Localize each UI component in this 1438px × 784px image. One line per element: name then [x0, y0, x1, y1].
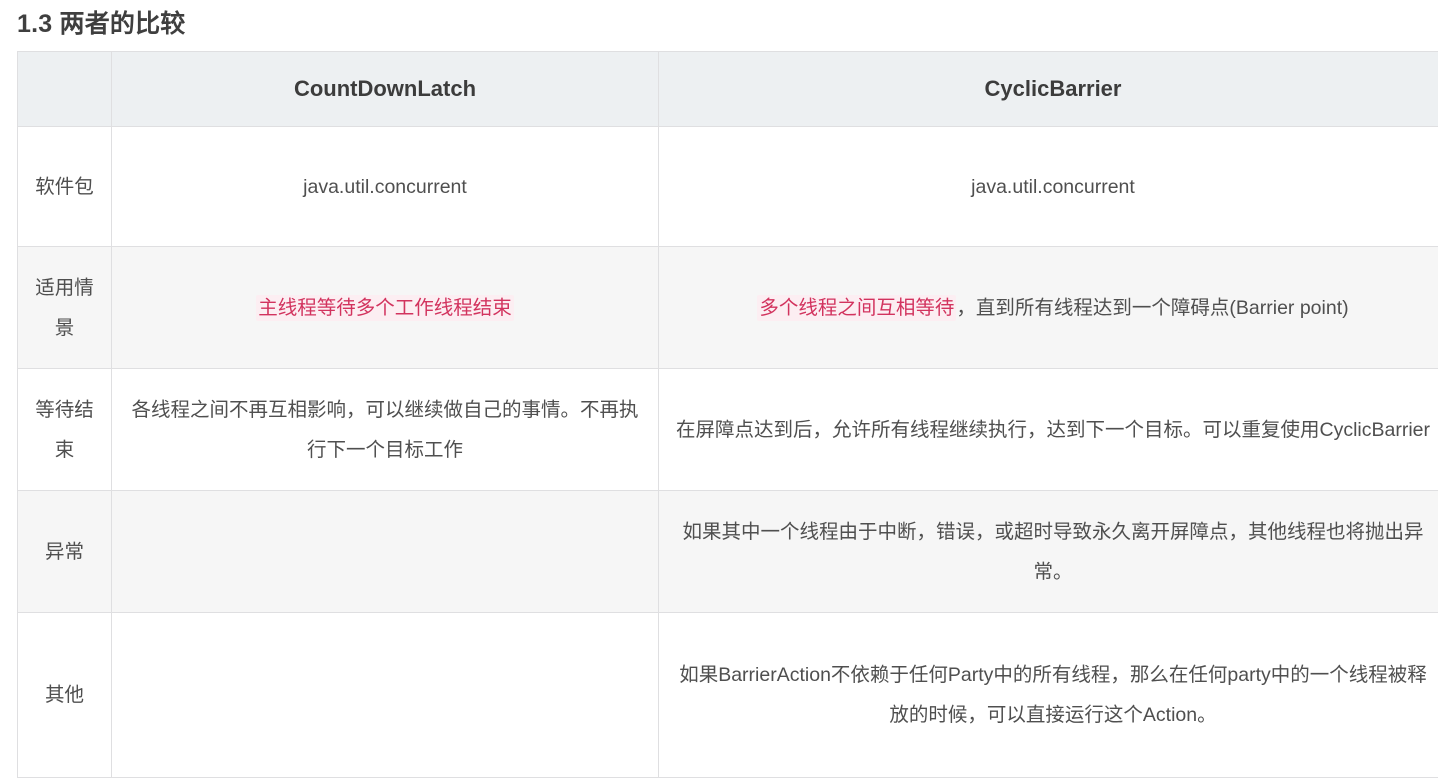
table-row: 适用情景 主线程等待多个工作线程结束 多个线程之间互相等待，直到所有线程达到一个… — [18, 247, 1438, 369]
column-header-cyclicbarrier: CyclicBarrier — [659, 52, 1438, 127]
highlighted-text: 多个线程之间互相等待 — [757, 295, 956, 321]
page-title: 1.3 两者的比较 — [17, 7, 186, 41]
table-header-row: CountDownLatch CyclicBarrier — [18, 52, 1438, 127]
cell-text: 如果其中一个线程由于中断，错误，或超时导致永久离开屏障点，其他线程也将抛出异常。 — [673, 512, 1433, 592]
cell-other-cyclicbarrier: 如果BarrierAction不依赖于任何Party中的所有线程，那么在任何pa… — [659, 613, 1438, 778]
cell-text: 各线程之间不再互相影响，可以继续做自己的事情。不再执行下一个目标工作 — [126, 390, 644, 470]
cell-text: ，直到所有线程达到一个障碍点(Barrier point) — [956, 297, 1348, 319]
cell-package-countdownlatch: java.util.concurrent — [112, 127, 659, 247]
comparison-table: CountDownLatch CyclicBarrier 软件包 java.ut… — [17, 51, 1438, 778]
cell-text: 如果BarrierAction不依赖于任何Party中的所有线程，那么在任何pa… — [673, 655, 1433, 735]
table-body: 软件包 java.util.concurrent java.util.concu… — [18, 127, 1438, 778]
cell-other-countdownlatch — [112, 613, 659, 778]
cell-package-cyclicbarrier: java.util.concurrent — [659, 127, 1438, 247]
column-header-blank — [18, 52, 112, 127]
cell-wait-end-countdownlatch: 各线程之间不再互相影响，可以继续做自己的事情。不再执行下一个目标工作 — [112, 369, 659, 491]
cell-text: 在屏障点达到后，允许所有线程继续执行，达到下一个目标。可以重复使用CyclicB… — [673, 410, 1433, 450]
table-row: 等待结束 各线程之间不再互相影响，可以继续做自己的事情。不再执行下一个目标工作 … — [18, 369, 1438, 491]
table-row: 软件包 java.util.concurrent java.util.concu… — [18, 127, 1438, 247]
row-label-wait-end: 等待结束 — [18, 369, 112, 491]
row-label-exception: 异常 — [18, 491, 112, 613]
highlighted-text: 主线程等待多个工作线程结束 — [256, 295, 514, 321]
cell-exception-countdownlatch — [112, 491, 659, 613]
row-label-package: 软件包 — [18, 127, 112, 247]
cell-text: java.util.concurrent — [673, 167, 1433, 207]
cell-use-case-cyclicbarrier: 多个线程之间互相等待，直到所有线程达到一个障碍点(Barrier point) — [659, 247, 1438, 369]
table-row: 异常 如果其中一个线程由于中断，错误，或超时导致永久离开屏障点，其他线程也将抛出… — [18, 491, 1438, 613]
table-row: 其他 如果BarrierAction不依赖于任何Party中的所有线程，那么在任… — [18, 613, 1438, 778]
cell-exception-cyclicbarrier: 如果其中一个线程由于中断，错误，或超时导致永久离开屏障点，其他线程也将抛出异常。 — [659, 491, 1438, 613]
cell-text: java.util.concurrent — [126, 167, 644, 207]
column-header-countdownlatch: CountDownLatch — [112, 52, 659, 127]
cell-use-case-countdownlatch: 主线程等待多个工作线程结束 — [112, 247, 659, 369]
cell-wait-end-cyclicbarrier: 在屏障点达到后，允许所有线程继续执行，达到下一个目标。可以重复使用CyclicB… — [659, 369, 1438, 491]
row-label-other: 其他 — [18, 613, 112, 778]
row-label-use-case: 适用情景 — [18, 247, 112, 369]
table-header: CountDownLatch CyclicBarrier — [18, 52, 1438, 127]
